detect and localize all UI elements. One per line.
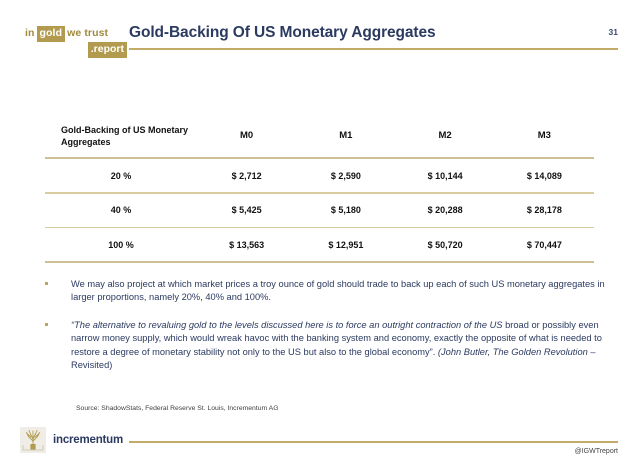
- cell-20-m1: $ 2,590: [296, 171, 395, 181]
- cell-40-m1: $ 5,180: [296, 205, 395, 215]
- footer-social-handle: @IGWTreport: [575, 448, 618, 455]
- footer-brand-name: incrementum: [53, 434, 123, 446]
- slide-footer: incrementum @IGWTreport: [0, 424, 634, 476]
- row-label-20: 20 %: [45, 170, 197, 182]
- header-divider: [129, 48, 618, 50]
- logo-word-in: in: [24, 26, 36, 40]
- page-title: Gold-Backing Of US Monetary Aggregates: [129, 24, 436, 42]
- cell-20-m2: $ 10,144: [396, 171, 495, 181]
- in-gold-we-trust-logo: ingoldwe trust .report: [24, 26, 128, 70]
- cell-100-m3: $ 70,447: [495, 240, 594, 250]
- table-corner-header: Gold-Backing of US Monetary Aggregates: [45, 124, 197, 148]
- cell-100-m2: $ 50,720: [396, 240, 495, 250]
- cell-20-m3: $ 14,089: [495, 171, 594, 181]
- bullet-2-lead-quote: “The alternative to revaluing gold to th…: [71, 320, 503, 330]
- table-row: 100 % $ 13,563 $ 12,951 $ 50,720 $ 70,44…: [45, 228, 594, 261]
- logo-word-gold: gold: [37, 26, 66, 42]
- table-rule: [45, 261, 594, 263]
- column-header-m3: M3: [495, 130, 594, 141]
- cell-40-m3: $ 28,178: [495, 205, 594, 215]
- tree-icon: [20, 427, 46, 453]
- row-label-100: 100 %: [45, 239, 197, 251]
- logo-word-report: .report: [88, 42, 127, 58]
- row-label-40: 40 %: [45, 204, 197, 216]
- cell-20-m0: $ 2,712: [197, 171, 296, 181]
- bullet-1-body: We may also project at which market pric…: [71, 279, 605, 302]
- square-bullet-icon: [45, 319, 71, 373]
- bullet-list: We may also project at which market pric…: [45, 278, 605, 386]
- incrementum-logo: incrementum: [20, 427, 123, 453]
- list-item: “The alternative to revaluing gold to th…: [45, 319, 605, 373]
- footer-divider: [129, 441, 618, 443]
- page-number: 31: [609, 27, 618, 37]
- gold-backing-table: Gold-Backing of US Monetary Aggregates M…: [45, 114, 594, 263]
- column-header-m0: M0: [197, 130, 296, 141]
- bullet-text-2: “The alternative to revaluing gold to th…: [71, 319, 605, 373]
- square-bullet-icon: [45, 278, 71, 305]
- slide-header: ingoldwe trust .report Gold-Backing Of U…: [0, 0, 634, 86]
- column-header-m1: M1: [296, 130, 395, 141]
- logo-word-we-trust: we trust: [66, 26, 109, 40]
- bullet-2-attribution: (John Butler, The Golden Revolution: [438, 347, 588, 357]
- cell-40-m2: $ 20,288: [396, 205, 495, 215]
- source-note: Source: ShadowStats, Federal Reserve St.…: [76, 405, 279, 412]
- table-row: 40 % $ 5,425 $ 5,180 $ 20,288 $ 28,178: [45, 194, 594, 227]
- column-header-m2: M2: [396, 130, 495, 141]
- logo-line-2: .report: [87, 42, 128, 58]
- cell-100-m1: $ 12,951: [296, 240, 395, 250]
- logo-line-1: ingoldwe trust: [24, 26, 109, 42]
- table-header-row: Gold-Backing of US Monetary Aggregates M…: [45, 114, 594, 157]
- slide-canvas: ingoldwe trust .report Gold-Backing Of U…: [0, 0, 634, 476]
- bullet-text-1: We may also project at which market pric…: [71, 278, 605, 305]
- list-item: We may also project at which market pric…: [45, 278, 605, 305]
- cell-40-m0: $ 5,425: [197, 205, 296, 215]
- table-row: 20 % $ 2,712 $ 2,590 $ 10,144 $ 14,089: [45, 159, 594, 192]
- cell-100-m0: $ 13,563: [197, 240, 296, 250]
